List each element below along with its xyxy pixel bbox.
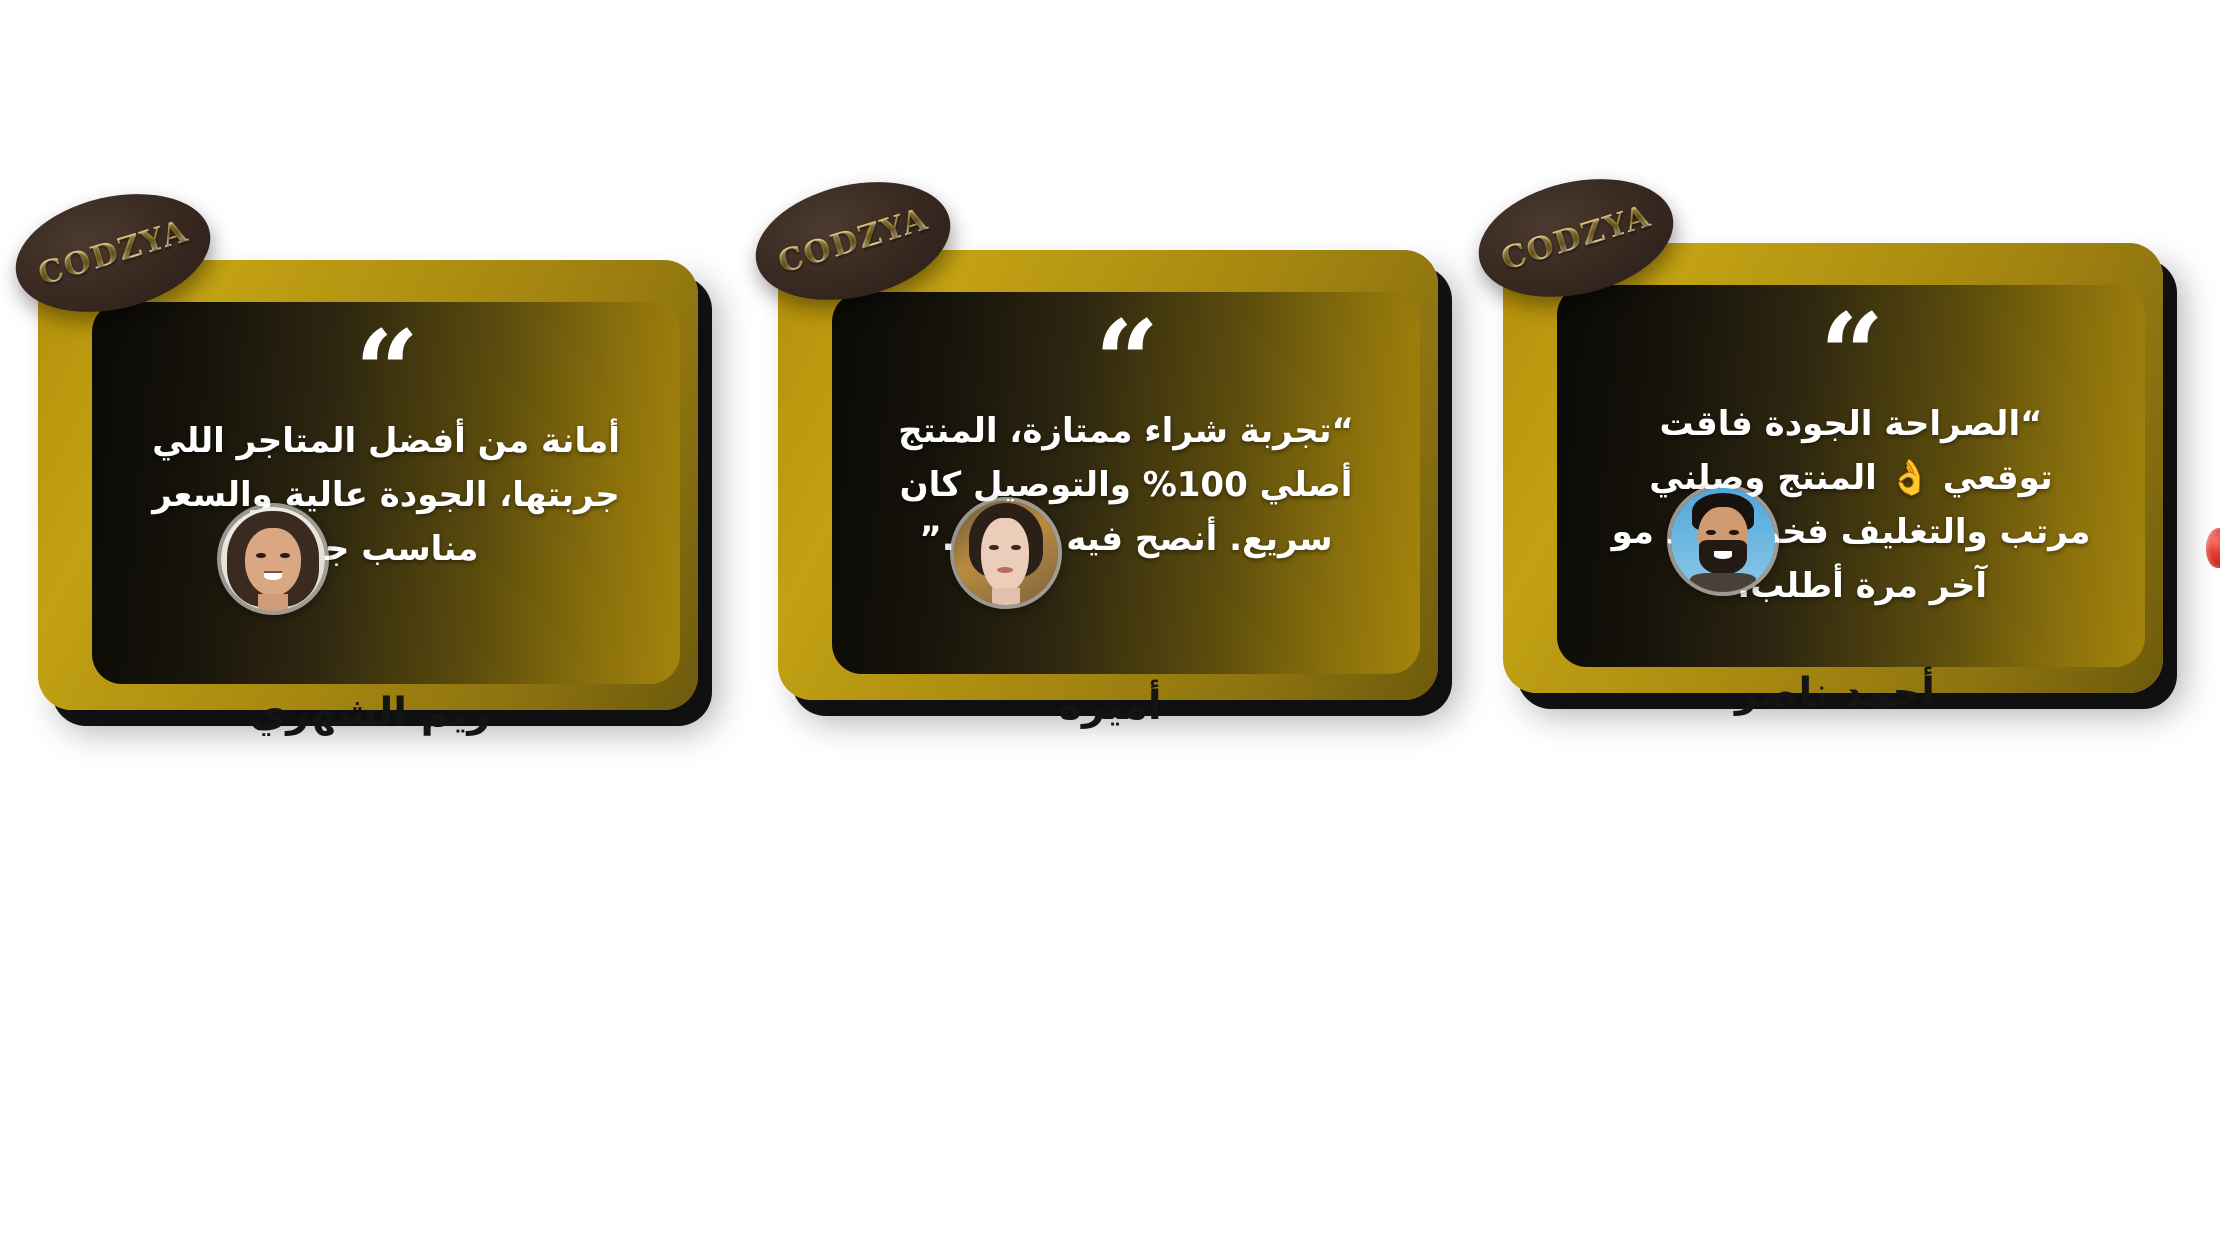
testimonial-author-name: أميره (760, 683, 1460, 729)
card-inner-panel: “ “تجربة شراء ممتازة، المنتج أصلي 100% و… (832, 292, 1420, 674)
quote-open-icon: “ (1095, 328, 1157, 397)
brand-wordmark: CODZYA (34, 213, 192, 293)
card-outer-shell: “ أمانة من أفضل المتاجر اللي جربتها، الج… (38, 260, 698, 710)
avatar-image (221, 507, 325, 611)
card-outer-shell: “ “تجربة شراء ممتازة، المنتج أصلي 100% و… (778, 250, 1438, 700)
avatar (1667, 484, 1779, 596)
testimonial-card[interactable]: “ “تجربة شراء ممتازة، المنتج أصلي 100% و… (760, 205, 1460, 885)
testimonial-card[interactable]: “ أمانة من أفضل المتاجر اللي جربتها، الج… (20, 215, 720, 895)
quote-open-icon: “ (1820, 321, 1882, 390)
testimonials-page: “ أمانة من أفضل المتاجر اللي جربتها، الج… (0, 0, 2220, 1248)
brand-wordmark: CODZYA (774, 201, 932, 281)
testimonials-row: “ أمانة من أفضل المتاجر اللي جربتها، الج… (0, 0, 2220, 1248)
card-outer-shell: “ “الصراحة الجودة فاقت توقعي 👌 المنتج وص… (1503, 243, 2163, 693)
avatar-image (954, 501, 1058, 605)
avatar-image (1671, 488, 1775, 592)
testimonial-quote: “تجربة شراء ممتازة، المنتج أصلي 100% وال… (872, 405, 1380, 566)
avatar (217, 503, 329, 615)
card-inner-panel: “ “الصراحة الجودة فاقت توقعي 👌 المنتج وص… (1557, 285, 2145, 667)
testimonial-author-name: ريم الشهري (20, 690, 720, 736)
testimonial-author-name: أحمد ناصر (1485, 670, 2185, 716)
testimonial-quote: أمانة من أفضل المتاجر اللي جربتها، الجود… (132, 415, 640, 576)
testimonial-card[interactable]: “ “الصراحة الجودة فاقت توقعي 👌 المنتج وص… (1485, 198, 2185, 878)
card-inner-panel: “ أمانة من أفضل المتاجر اللي جربتها، الج… (92, 302, 680, 684)
quote-open-icon: “ (355, 338, 417, 407)
avatar (950, 497, 1062, 609)
brand-wordmark: CODZYA (1497, 198, 1655, 278)
